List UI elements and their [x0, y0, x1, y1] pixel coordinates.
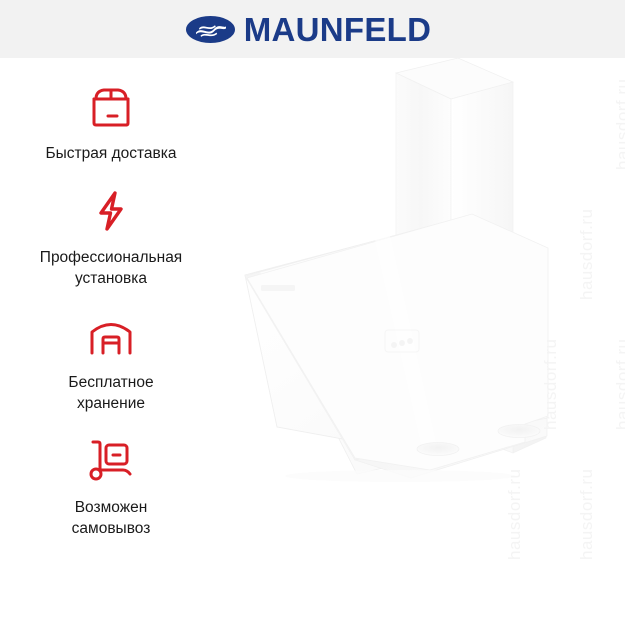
- benefit-label: Бесплатное хранение: [68, 373, 153, 414]
- benefit-item-delivery: Быстрая доставка: [0, 78, 222, 164]
- maunfeld-oval-emblem-icon: [186, 16, 235, 43]
- benefit-label: Быстрая доставка: [45, 144, 176, 164]
- benefits-column: Быстрая доставка Профессиональная устано…: [0, 78, 222, 557]
- product-photo-range-hood: [225, 58, 625, 625]
- site-header: MAUNFELD: [0, 0, 625, 58]
- benefit-item-installation: Профессиональная установка: [0, 182, 222, 289]
- benefit-label: Профессиональная установка: [40, 248, 182, 289]
- brand-logo[interactable]: MAUNFELD: [186, 13, 432, 46]
- benefit-label: Возможен самовывоз: [72, 498, 151, 539]
- brand-wordmark: MAUNFELD: [244, 13, 432, 46]
- package-box-icon: [86, 78, 136, 136]
- hand-truck-icon: [85, 432, 137, 490]
- benefit-item-storage: Бесплатное хранение: [0, 307, 222, 414]
- lightning-bolt-icon: [88, 182, 134, 240]
- warehouse-icon: [86, 307, 136, 365]
- product-brand-badge: [261, 285, 295, 291]
- benefit-item-pickup: Возможен самовывоз: [0, 432, 222, 539]
